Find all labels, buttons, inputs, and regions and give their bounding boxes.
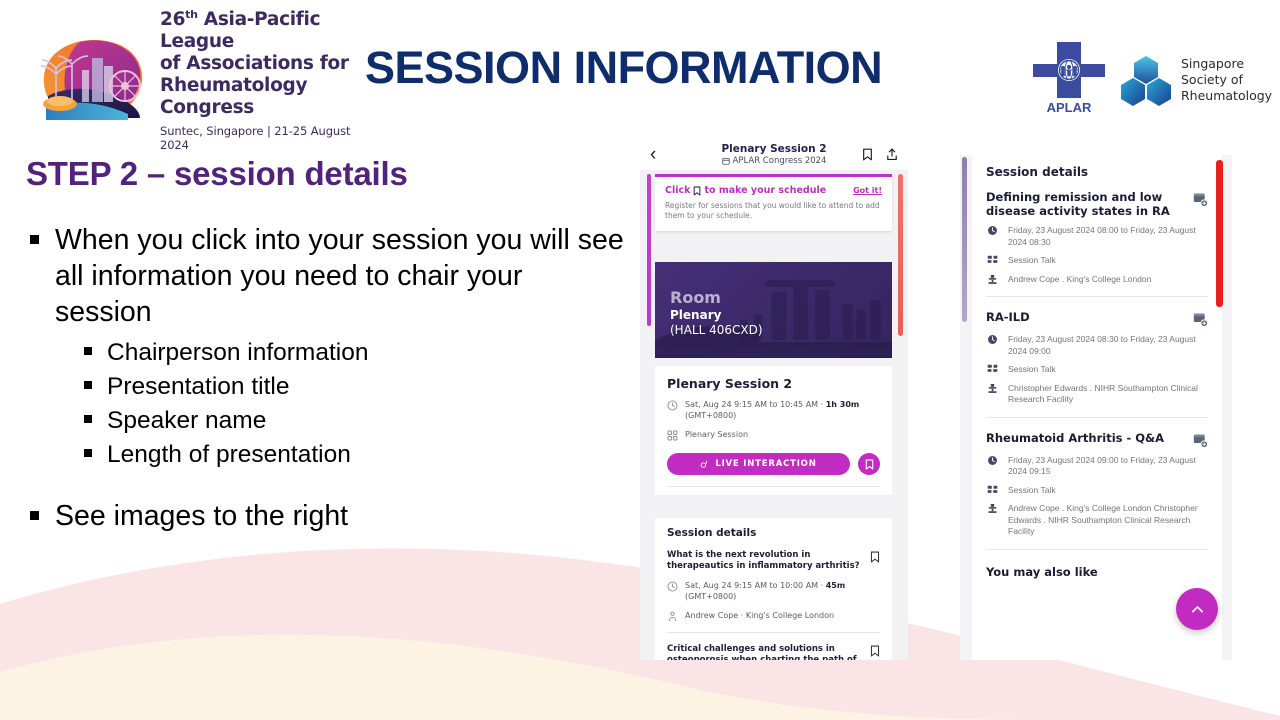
session-duration: 1h 30m — [826, 400, 860, 409]
top-bar-actions — [862, 148, 898, 161]
talk-time-row: Friday, 23 August 2024 09:00 to Friday, … — [986, 455, 1208, 478]
phone-screenshot-session-overview: ‹ Plenary Session 2 APLAR Congress 2024 — [640, 138, 908, 660]
clock-filled-icon — [986, 334, 999, 345]
session-time-row: Sat, Aug 24 9:15 AM to 10:45 AM · 1h 30m… — [667, 399, 880, 421]
session-timezone: (GMT+0800) — [685, 411, 736, 420]
bookmark-icon — [693, 186, 701, 196]
live-dot-icon — [700, 460, 709, 469]
live-interaction-button[interactable]: LIVE INTERACTION — [667, 453, 850, 475]
talk-speaker-row: Christopher Edwards . NIHR Southampton C… — [986, 383, 1208, 406]
left-scrollbar[interactable] — [962, 157, 967, 322]
sub-bullet-text: Speaker name — [107, 404, 266, 437]
talk-speaker-text: Christopher Edwards . NIHR Southampton C… — [1008, 383, 1208, 406]
bookmark-icon[interactable] — [870, 551, 880, 563]
bullet-square-icon — [84, 449, 92, 457]
talk-time-text: Friday, 23 August 2024 08:00 to Friday, … — [1008, 225, 1208, 248]
talk-speaker-row: Andrew Cope . King's College London Chri… — [986, 503, 1208, 538]
got-it-link[interactable]: Got it! — [853, 186, 882, 195]
bookmark-icon[interactable] — [870, 645, 880, 657]
top-bar-subtitle-text: APLAR Congress 2024 — [733, 156, 827, 166]
vertical-scrollbar[interactable] — [1216, 160, 1223, 307]
talk-title: What is the next revolution in therapeau… — [667, 550, 862, 572]
bullet-item: See images to the right — [26, 498, 626, 534]
divider — [986, 417, 1208, 418]
spacer — [26, 472, 626, 498]
clock-filled-icon — [986, 225, 999, 236]
podium-icon — [986, 503, 999, 514]
congress-logo-location: Suntec, Singapore | 21-25 August 2024 — [160, 124, 352, 152]
session-action-row: LIVE INTERACTION — [667, 453, 880, 475]
add-to-calendar-icon[interactable] — [1193, 433, 1208, 448]
app-top-bar: ‹ Plenary Session 2 APLAR Congress 2024 — [640, 138, 908, 170]
room-name: Plenary — [670, 307, 763, 323]
talk-time-row: Friday, 23 August 2024 08:30 to Friday, … — [986, 334, 1208, 357]
step-heading: STEP 2 – session details — [26, 155, 408, 193]
bullet-square-icon — [84, 381, 92, 389]
sub-bullet-item: Chairperson information — [84, 336, 626, 369]
room-text: Room Plenary (HALL 406CXD) — [670, 288, 763, 338]
talk-speaker-text: Andrew Cope · King's College London — [685, 610, 834, 621]
tip-title: Click to make your schedule — [665, 185, 826, 196]
bullet-list: When you click into your session you wil… — [26, 222, 626, 536]
talk-type-text: Session Talk — [1008, 364, 1056, 376]
divider — [667, 486, 880, 487]
bullet-square-icon — [84, 415, 92, 423]
talk-time-text: Friday, 23 August 2024 09:00 to Friday, … — [1008, 455, 1208, 478]
session-details-heading: Session details — [667, 527, 880, 539]
aplar-cross-globe-icon: APLAR — [1033, 42, 1105, 118]
talk-item[interactable]: Defining remission and low disease activ… — [986, 190, 1208, 310]
session-time-main: Sat, Aug 24 9:15 AM to 10:45 AM · — [685, 400, 826, 409]
singapore-society-rheumatology-logo: Singapore Society of Rheumatology — [1120, 48, 1256, 112]
room-hall: (HALL 406CXD) — [670, 323, 763, 338]
scroll-to-top-button[interactable] — [1176, 588, 1218, 630]
sub-bullet-item: Length of presentation — [84, 438, 626, 471]
tip-title-post: to make your schedule — [704, 185, 826, 196]
talk-title: Critical challenges and solutions in ost… — [667, 644, 862, 660]
ssr-line2: Society of — [1181, 72, 1272, 88]
talk-time-text: Sat, Aug 24 9:15 AM to 10:00 AM · 45m (G… — [685, 580, 845, 602]
talk-item[interactable]: Critical challenges and solutions in ost… — [667, 633, 880, 660]
sub-bullet-item: Presentation title — [84, 370, 626, 403]
talk-speaker-row: Andrew Cope · King's College London — [667, 610, 880, 622]
bullet-square-icon — [84, 347, 92, 355]
schedule-tip-card: Click to make your schedule Got it! Regi… — [655, 174, 892, 231]
ssr-line1: Singapore — [1181, 56, 1272, 72]
bullet-square-icon — [30, 235, 39, 244]
session-details-list: Session details What is the next revolut… — [655, 518, 892, 660]
talk-item[interactable]: Rheumatoid Arthritis - Q&A — [986, 431, 1208, 563]
sub-bullet-text: Length of presentation — [107, 438, 351, 471]
room-banner-card[interactable]: Room Plenary (HALL 406CXD) — [655, 262, 892, 358]
sub-bullet-text: Chairperson information — [107, 336, 368, 369]
bullet-text: See images to the right — [55, 498, 348, 534]
chevron-up-icon — [1189, 601, 1206, 618]
talk-title-row: RA-ILD — [986, 310, 1208, 327]
talk-title-row: Defining remission and low disease activ… — [986, 190, 1208, 218]
slide: 26th Asia-Pacific League of Associations… — [0, 0, 1280, 720]
talk-type-row: Session Talk — [986, 255, 1208, 267]
tip-title-pre: Click — [665, 185, 690, 196]
bookmark-icon[interactable] — [862, 148, 873, 161]
talk-type-row: Session Talk — [986, 485, 1208, 497]
calendar-icon — [722, 157, 730, 165]
phone-screenshot-session-details: Session details Defining remission and l… — [960, 155, 1232, 660]
session-details-heading: Session details — [986, 165, 1208, 179]
bookmark-icon — [865, 459, 874, 470]
sub-bullet-text: Presentation title — [107, 370, 290, 403]
ssr-hexagon-icon — [1120, 54, 1172, 106]
congress-logo: 26th Asia-Pacific League of Associations… — [32, 28, 352, 128]
session-bookmark-button[interactable] — [858, 453, 880, 475]
room-label: Room — [670, 288, 763, 307]
congress-logo-line1: 26th Asia-Pacific League — [160, 4, 352, 53]
tip-body-text: Register for sessions that you would lik… — [665, 201, 882, 221]
talk-timezone: (GMT+0800) — [685, 592, 736, 601]
divider — [986, 296, 1208, 297]
congress-logo-text: 26th Asia-Pacific League of Associations… — [160, 4, 352, 152]
live-interaction-label: LIVE INTERACTION — [715, 459, 816, 469]
session-summary-card: Plenary Session 2 Sat, Aug 24 9:15 AM to… — [655, 366, 892, 495]
session-type-row: Plenary Session — [667, 429, 880, 441]
speaker-icon — [667, 611, 678, 622]
talk-time-main: Sat, Aug 24 9:15 AM to 10:00 AM · — [685, 581, 826, 590]
talk-speaker-text: Andrew Cope . King's College London Chri… — [1008, 503, 1208, 538]
talk-speaker-text: Andrew Cope . King's College London — [1008, 274, 1151, 286]
congress-skyline-logo-icon — [32, 30, 150, 126]
svg-text:APLAR: APLAR — [1047, 100, 1092, 115]
talk-type-text: Session Talk — [1008, 255, 1056, 267]
grid-icon — [986, 255, 999, 266]
share-icon[interactable] — [886, 148, 898, 161]
talk-item[interactable]: RA-ILD Friday, 23 Au — [986, 310, 1208, 431]
app-body: Click to make your schedule Got it! Regi… — [640, 170, 908, 660]
ssr-line3: Rheumatology — [1181, 88, 1272, 104]
clock-icon — [667, 400, 678, 411]
session-time-text: Sat, Aug 24 9:15 AM to 10:45 AM · 1h 30m… — [685, 399, 859, 421]
podium-icon — [986, 274, 999, 285]
add-to-calendar-icon[interactable] — [1193, 312, 1208, 327]
right-accent-scrollbar[interactable] — [898, 174, 903, 336]
talk-title: Defining remission and low disease activ… — [986, 190, 1185, 218]
talk-time-row: Friday, 23 August 2024 08:00 to Friday, … — [986, 225, 1208, 248]
bullet-item: When you click into your session you wil… — [26, 222, 626, 330]
page-title: SESSION INFORMATION — [365, 42, 882, 94]
talk-title-row: Rheumatoid Arthritis - Q&A — [986, 431, 1208, 448]
you-may-also-like-heading: You may also like — [986, 565, 1208, 579]
talk-item[interactable]: What is the next revolution in therapeau… — [667, 539, 880, 633]
talk-duration: 45m — [826, 581, 845, 590]
podium-icon — [986, 383, 999, 394]
talk-title: Rheumatoid Arthritis - Q&A — [986, 431, 1164, 445]
grid-icon — [986, 364, 999, 375]
congress-logo-line2: of Associations for — [160, 53, 352, 75]
talk-speaker-row: Andrew Cope . King's College London — [986, 274, 1208, 286]
talk-time-row: Sat, Aug 24 9:15 AM to 10:00 AM · 45m (G… — [667, 580, 880, 602]
talk-type-text: Session Talk — [1008, 485, 1056, 497]
left-accent-scrollbar[interactable] — [647, 174, 651, 326]
sub-bullet-list: Chairperson information Presentation tit… — [84, 336, 626, 471]
talk-title-row: What is the next revolution in therapeau… — [667, 550, 880, 572]
session-details-panel: Session details Defining remission and l… — [972, 155, 1222, 660]
talk-title-row: Critical challenges and solutions in ost… — [667, 644, 880, 660]
grid-icon — [667, 430, 678, 441]
sub-bullet-item: Speaker name — [84, 404, 626, 437]
session-type-text: Plenary Session — [685, 429, 748, 440]
divider — [986, 549, 1208, 550]
talk-time-text: Friday, 23 August 2024 08:30 to Friday, … — [1008, 334, 1208, 357]
talk-type-row: Session Talk — [986, 364, 1208, 376]
tip-header-row: Click to make your schedule Got it! — [665, 185, 882, 196]
ssr-logo-text: Singapore Society of Rheumatology — [1181, 56, 1272, 104]
add-to-calendar-icon[interactable] — [1193, 192, 1208, 207]
bullet-square-icon — [30, 511, 39, 520]
clock-filled-icon — [986, 455, 999, 466]
congress-logo-line3: Rheumatology Congress — [160, 75, 352, 119]
session-title: Plenary Session 2 — [667, 376, 880, 391]
talk-title: RA-ILD — [986, 310, 1030, 324]
bullet-text: When you click into your session you wil… — [55, 222, 626, 330]
grid-icon — [986, 485, 999, 496]
clock-icon — [667, 581, 678, 592]
